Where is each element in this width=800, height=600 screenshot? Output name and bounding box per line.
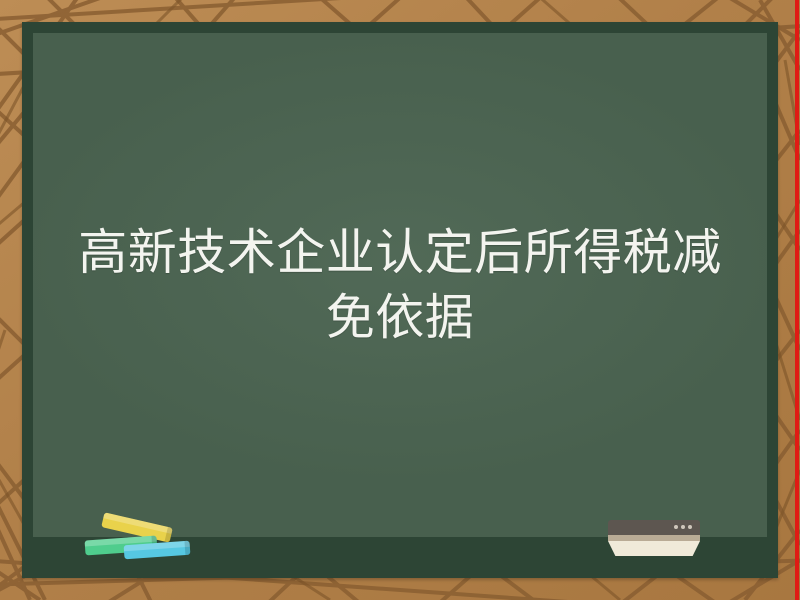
right-edge-stripe bbox=[795, 0, 799, 600]
title-line-2: 免依据 bbox=[326, 285, 475, 350]
chalkboard-frame: 高新技术企业认定后所得税减 免依据 bbox=[22, 22, 778, 578]
eraser-band bbox=[608, 535, 700, 541]
board-eraser bbox=[608, 520, 700, 556]
eraser-dot bbox=[674, 525, 678, 529]
eraser-handle bbox=[608, 520, 700, 535]
slide-canvas: 高新技术企业认定后所得税减 免依据 bbox=[0, 0, 800, 600]
eraser-dots-icon bbox=[674, 525, 692, 529]
chalk-end-cap bbox=[184, 541, 190, 555]
eraser-dot bbox=[688, 525, 692, 529]
eraser-felt bbox=[608, 541, 700, 556]
eraser-dot bbox=[681, 525, 685, 529]
title-line-1: 高新技术企业认定后所得税减 bbox=[78, 220, 722, 285]
chalkboard-title-block: 高新技术企业认定后所得税减 免依据 bbox=[33, 33, 767, 537]
